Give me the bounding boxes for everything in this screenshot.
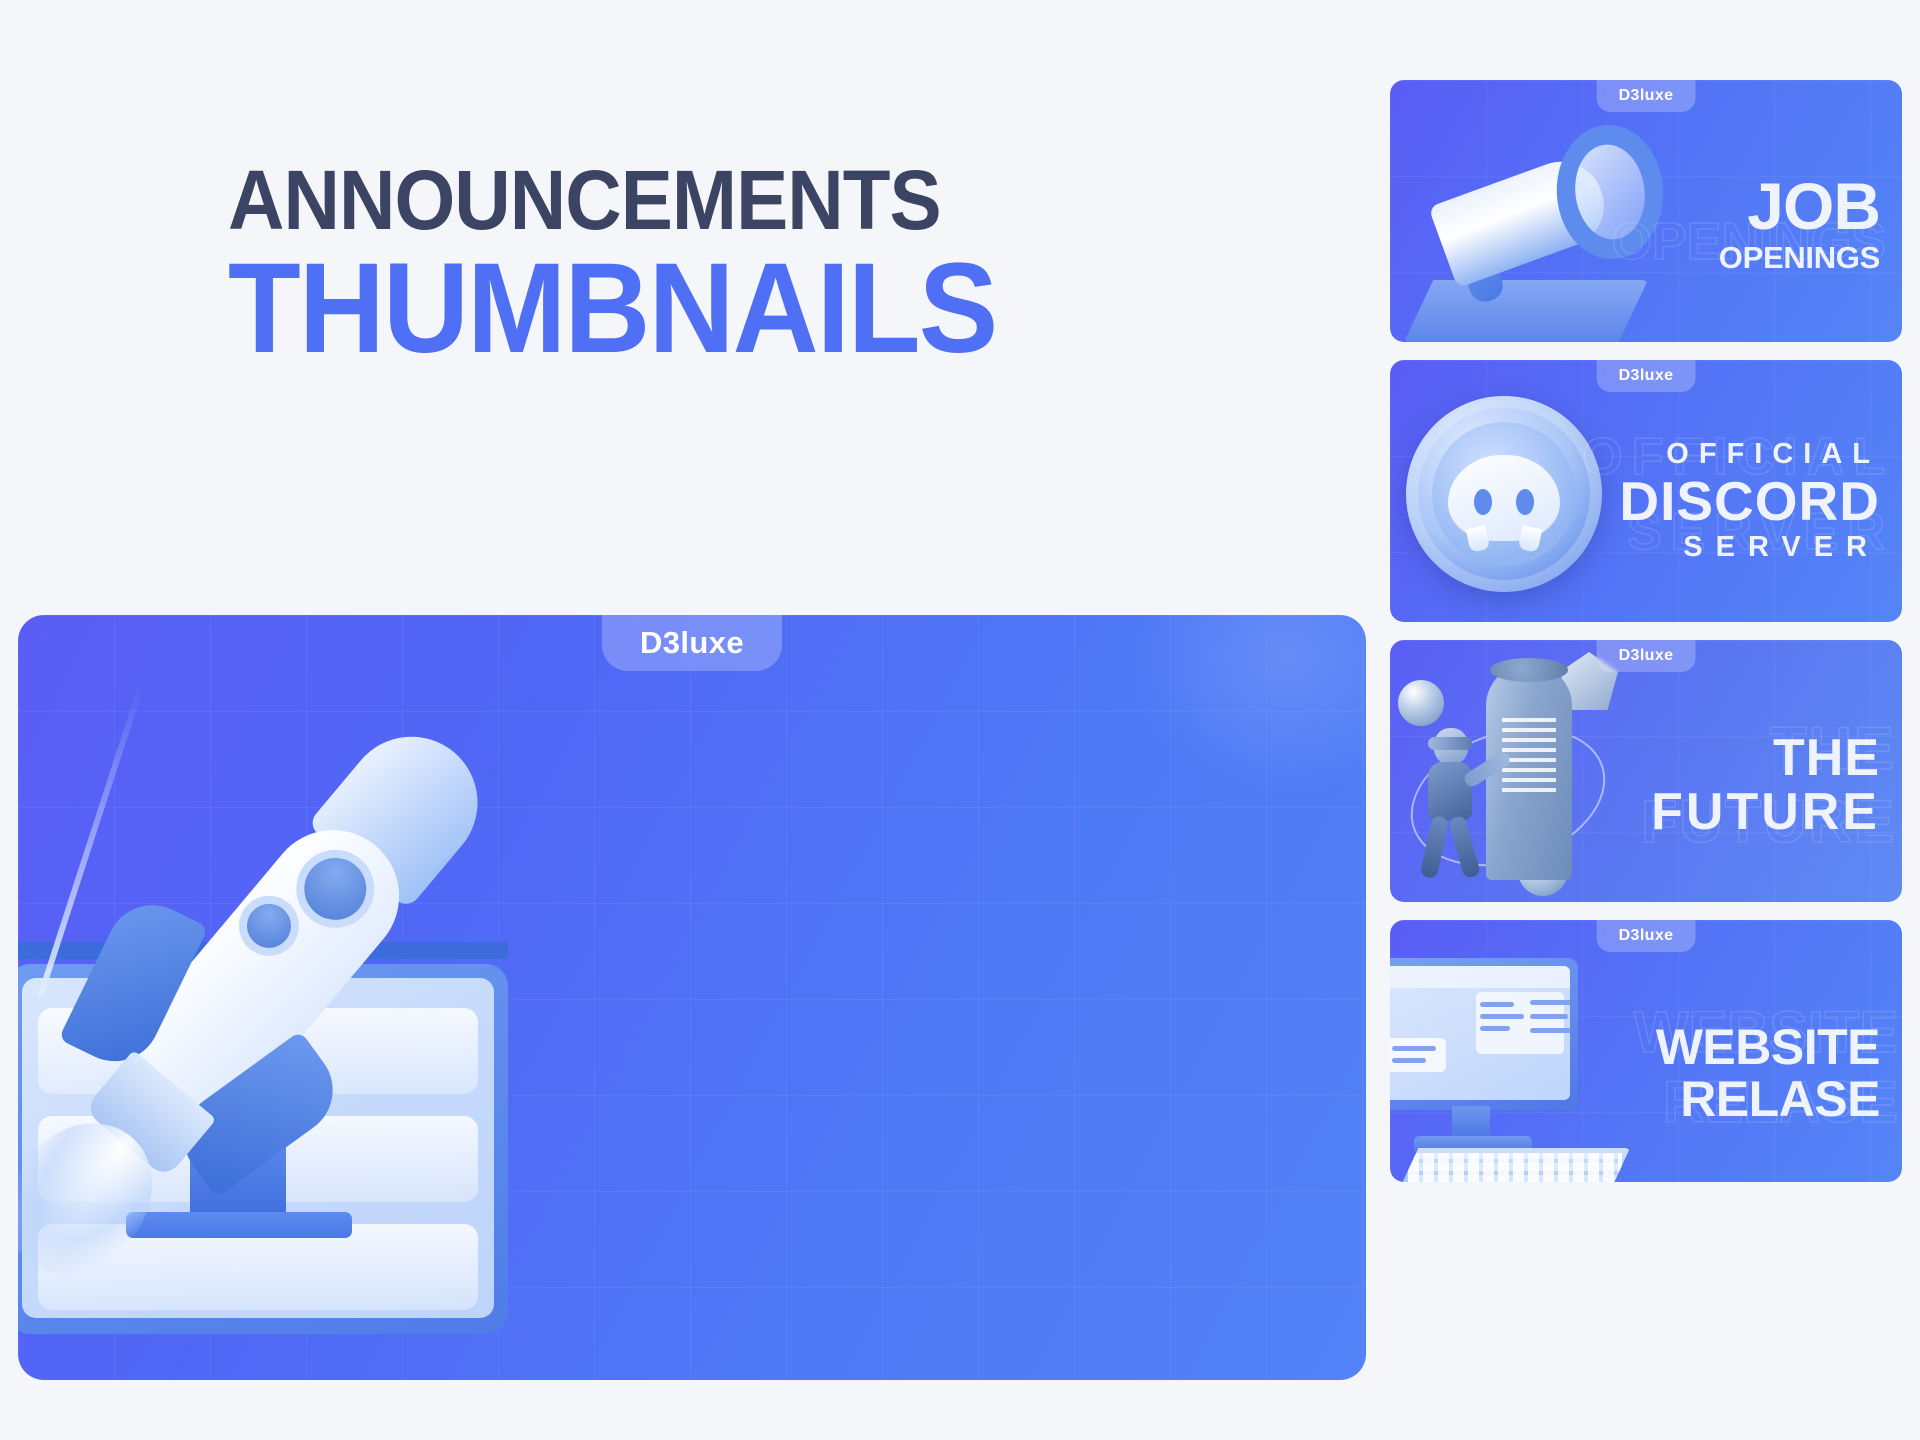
- ui-line: [1480, 1002, 1514, 1007]
- ui-line: [1392, 1046, 1436, 1051]
- thumbnail-list: OPENINGS JOB OPENINGS D3luxe OFFICIAL SE…: [1390, 80, 1902, 1200]
- thumbnail-title-job-openings: JOB OPENINGS: [1719, 176, 1880, 275]
- monitor-icon: [1390, 958, 1578, 1110]
- vr-person-figure: [1418, 728, 1492, 878]
- thumbnail-title-line-1: WEBSITE: [1656, 1022, 1880, 1073]
- page-title-line-2: THUMBNAILS: [228, 245, 1214, 373]
- brand-logo-badge: D3luxe: [1597, 640, 1696, 672]
- monitor-neck: [1452, 1106, 1490, 1140]
- monitor-screen: [1390, 966, 1570, 1100]
- thumbnail-title-line-2: OPENINGS: [1719, 241, 1880, 275]
- thumbnail-title-line-2: FUTURE: [1651, 784, 1880, 840]
- thumbnail-card-job-openings[interactable]: OPENINGS JOB OPENINGS D3luxe: [1390, 80, 1902, 342]
- thumbnail-title-line-2: RELASE: [1656, 1073, 1880, 1126]
- brand-logo-badge: D3luxe: [1597, 920, 1696, 952]
- ui-line: [1530, 1000, 1570, 1005]
- discord-eye-left: [1474, 489, 1492, 515]
- thumbnail-title-line-3: SERVER: [1619, 531, 1880, 564]
- rocket-monitor-illustration: [18, 615, 638, 1380]
- page-title-line-1: ANNOUNCEMENTS: [228, 160, 1214, 241]
- thumbnail-card-discord-server[interactable]: OFFICIAL SERVER OFFICIAL DISCORD SERVER …: [1390, 360, 1902, 622]
- sphere-icon: [1398, 680, 1444, 726]
- keyboard-icon: [1400, 1148, 1630, 1182]
- thumbnail-title-line-1: JOB: [1719, 176, 1880, 237]
- figure-leg-left: [1420, 815, 1450, 879]
- thumbnail-title-line-2: DISCORD: [1619, 473, 1880, 529]
- page-title-block: ANNOUNCEMENTS THUMBNAILS: [228, 160, 1288, 373]
- megaphone-icon: [1408, 110, 1658, 340]
- discord-coin: [1406, 396, 1602, 592]
- ui-line: [1480, 1026, 1510, 1031]
- ui-line: [1392, 1058, 1426, 1063]
- ui-line: [1480, 1014, 1524, 1019]
- corner-glow: [1116, 615, 1366, 805]
- ui-line: [1530, 1014, 1568, 1019]
- thumbnail-title-the-future: THE FUTURE: [1651, 732, 1880, 840]
- brand-logo-badge: D3luxe: [1597, 80, 1696, 112]
- thumbnail-title-line-1: THE: [1651, 732, 1880, 784]
- figure-torso: [1428, 762, 1472, 820]
- thumbnail-title-discord: OFFICIAL DISCORD SERVER: [1619, 438, 1880, 564]
- ui-panel: [1390, 1038, 1446, 1072]
- discord-logo-icon: [1448, 455, 1560, 541]
- platform-shape: [1404, 280, 1648, 342]
- thumbnail-card-website-relase[interactable]: WEBSITE RELASE WEBSITE RELASE D3luxe: [1390, 920, 1902, 1182]
- megaphone-ring: [1543, 109, 1677, 275]
- hero-thumbnail-card[interactable]: UPCOMING PROJE UPCOMING PROJECTS D3luxe: [18, 615, 1366, 1380]
- thumbnail-title-website-relase: WEBSITE RELASE: [1656, 1022, 1880, 1126]
- figure-leg-right: [1448, 815, 1481, 879]
- tower-shape: [1486, 664, 1572, 880]
- browser-bar: [1390, 966, 1570, 988]
- brand-logo-badge: D3luxe: [1597, 360, 1696, 392]
- thumbnail-card-the-future[interactable]: THE FUTURE THE FUTURE D3luxe: [1390, 640, 1902, 902]
- vr-headset-icon: [1428, 737, 1472, 750]
- discord-eye-right: [1516, 489, 1534, 515]
- tower-top: [1490, 658, 1568, 682]
- thumbnail-title-line-1: OFFICIAL: [1619, 438, 1880, 471]
- ui-line: [1530, 1028, 1570, 1033]
